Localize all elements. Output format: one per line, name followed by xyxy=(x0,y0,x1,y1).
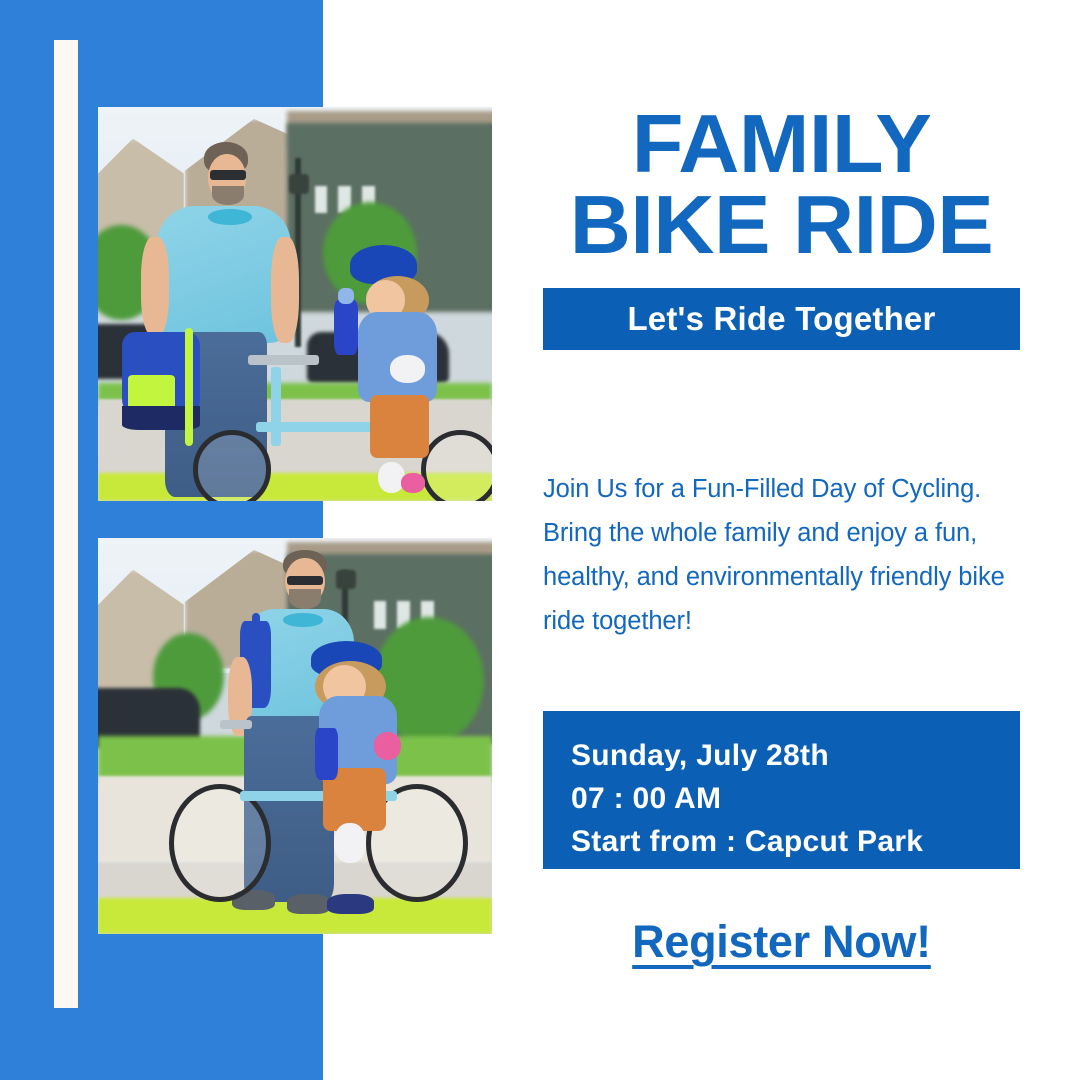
subtitle-banner: Let's Ride Together xyxy=(543,288,1020,350)
water-bottle xyxy=(315,728,339,779)
photo-1-scene xyxy=(98,107,492,501)
bicycle-wheel xyxy=(421,430,492,501)
backpack-strap xyxy=(185,328,193,446)
bicycle-frame xyxy=(271,367,280,446)
photo-2-scene xyxy=(98,538,492,934)
child-shorts xyxy=(370,395,429,458)
bottle-cap xyxy=(338,288,354,304)
shirt-collar xyxy=(283,613,322,626)
window xyxy=(374,601,387,629)
poster-content: FAMILY BIKE RIDE Let's Ride Together Joi… xyxy=(543,0,1020,1080)
photo-father-and-child-with-bicycle xyxy=(98,107,492,501)
event-details-box: Sunday, July 28th 07 : 00 AM Start from … xyxy=(543,711,1020,869)
bicycle-wheel xyxy=(169,784,271,903)
shirt-collar xyxy=(208,209,251,225)
page-title: FAMILY BIKE RIDE xyxy=(538,104,1025,265)
bicycle-handlebar xyxy=(220,720,252,729)
bicycle-handlebar xyxy=(248,355,319,364)
child-elbow-pad xyxy=(374,732,402,760)
event-location: Start from : Capcut Park xyxy=(571,821,1020,864)
man-shoe xyxy=(287,894,330,914)
child-shoe xyxy=(327,894,374,914)
child-shoe-pink xyxy=(401,473,425,493)
lamp-head xyxy=(289,174,309,194)
title-line-2: BIKE RIDE xyxy=(538,185,1025,266)
event-time: 07 : 00 AM xyxy=(571,778,1020,821)
man-arm xyxy=(141,237,169,336)
cream-vertical-stripe xyxy=(54,40,78,1008)
sunglasses xyxy=(210,170,245,180)
child-knee-pad xyxy=(334,823,366,863)
photo-father-and-child-posing xyxy=(98,538,492,934)
description-text: Join Us for a Fun-Filled Day of Cycling.… xyxy=(543,468,1020,643)
window xyxy=(315,186,328,214)
water-bottle xyxy=(334,300,358,355)
child-elbow-pad xyxy=(390,355,425,383)
bicycle-wheel xyxy=(193,430,272,501)
cta-container: Register Now! xyxy=(543,916,1020,968)
man-arm xyxy=(271,237,299,343)
lamp-head xyxy=(336,570,356,590)
title-line-1: FAMILY xyxy=(632,97,932,190)
backpack-pocket xyxy=(128,375,175,410)
event-date: Sunday, July 28th xyxy=(571,735,1020,778)
register-now-link[interactable]: Register Now! xyxy=(632,916,931,967)
beard xyxy=(289,589,321,609)
sunglasses xyxy=(287,576,322,586)
subtitle-text: Let's Ride Together xyxy=(627,300,935,338)
